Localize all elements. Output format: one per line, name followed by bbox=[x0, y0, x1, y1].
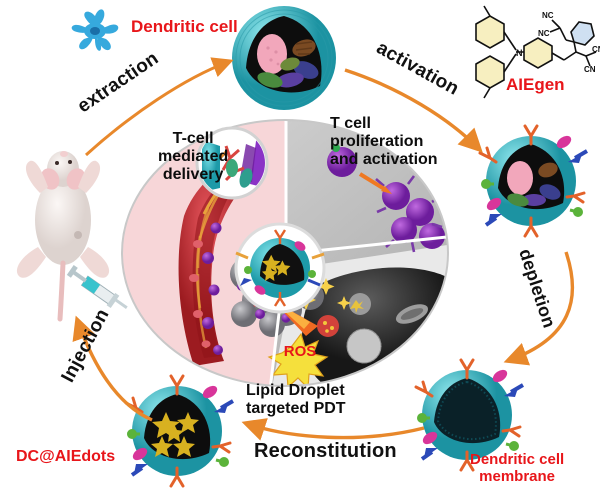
arrow-reconstitution bbox=[248, 424, 424, 438]
arrow-label-reconstitution: Reconstitution bbox=[254, 440, 397, 463]
figure-canvas: ROS bbox=[0, 0, 600, 499]
lipid-pdt-label: Lipid Droplet targeted PDT bbox=[246, 382, 346, 418]
cycle-arrows bbox=[0, 0, 600, 499]
tcell-delivery-label: T-cell mediated delivery bbox=[158, 130, 228, 184]
tcell-proliferation-label: T cell proliferation and activation bbox=[330, 115, 438, 169]
